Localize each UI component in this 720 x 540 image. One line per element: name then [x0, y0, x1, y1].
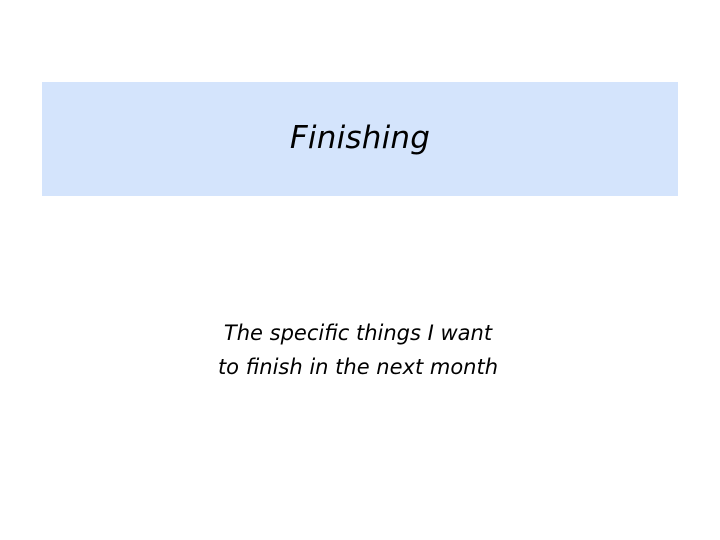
body-text-line-1: The specific things I want [0, 316, 716, 350]
title-banner: Finishing [42, 82, 678, 196]
body-text-block: The specific things I want to finish in … [0, 316, 716, 384]
slide-title: Finishing [290, 121, 430, 155]
slide-canvas: Finishing The specific things I want to … [0, 0, 720, 540]
body-text-line-2: to finish in the next month [0, 350, 716, 384]
